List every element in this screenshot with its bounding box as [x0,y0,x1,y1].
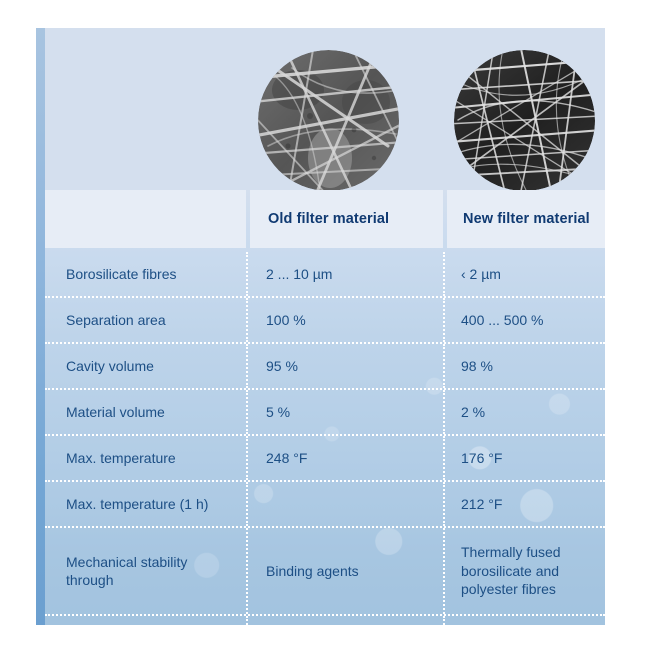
cell-new: Thermally fused borosilicate and polyest… [443,528,605,614]
cell-old: 5 % [246,390,443,434]
old-filter-micrograph [258,50,399,191]
cell-property: Cavity volume [45,344,246,388]
table-row: Material volume 5 % 2 % [45,388,605,434]
table-row: Borosilicate fibres 2 ... 10 µm ‹ 2 µm [45,252,605,296]
cell-old: 95 % [246,344,443,388]
cell-property: Material volume [45,390,246,434]
table-row: Max. temperature (1 h) 212 °F [45,480,605,526]
cell-property: Material emissions [45,616,246,625]
cell-old: Binding agents [246,528,443,614]
micrograph-row [36,28,605,190]
cell-new: 176 °F [443,436,605,480]
header-cell-old: Old filter material [250,190,443,248]
table-header-row: Old filter material New filter material [45,190,605,248]
cell-old: 2 ... 10 µm [246,252,443,296]
cell-old: 100 % [246,298,443,342]
cell-property: Separation area [45,298,246,342]
cell-new: 212 °F [443,482,605,526]
cell-property: Mechanical stability through [45,528,246,614]
comparison-infographic-panel: Old filter material New filter material … [36,28,605,625]
cell-property: Max. temperature [45,436,246,480]
cell-new: 98 % [443,344,605,388]
header-label-old: Old filter material [268,211,389,227]
header-label-new: New filter material [463,211,590,227]
table-row: Material emissions Possible Not possible [45,614,605,625]
new-filter-micrograph [454,50,595,191]
header-cell-new: New filter material [447,190,605,248]
cell-old: 248 °F [246,436,443,480]
table-row: Cavity volume 95 % 98 % [45,342,605,388]
cell-old: Possible [246,616,443,625]
table-row: Max. temperature 248 °F 176 °F [45,434,605,480]
cell-property: Max. temperature (1 h) [45,482,246,526]
cell-new: ‹ 2 µm [443,252,605,296]
cell-old [246,482,443,526]
table-row: Mechanical stability through Binding age… [45,526,605,614]
header-cell-property [45,190,246,248]
cell-property: Borosilicate fibres [45,252,246,296]
table-body: Borosilicate fibres 2 ... 10 µm ‹ 2 µm S… [45,252,605,625]
cell-new: 2 % [443,390,605,434]
table-row: Separation area 100 % 400 ... 500 % [45,296,605,342]
cell-new: Not possible [443,616,605,625]
cell-new: 400 ... 500 % [443,298,605,342]
